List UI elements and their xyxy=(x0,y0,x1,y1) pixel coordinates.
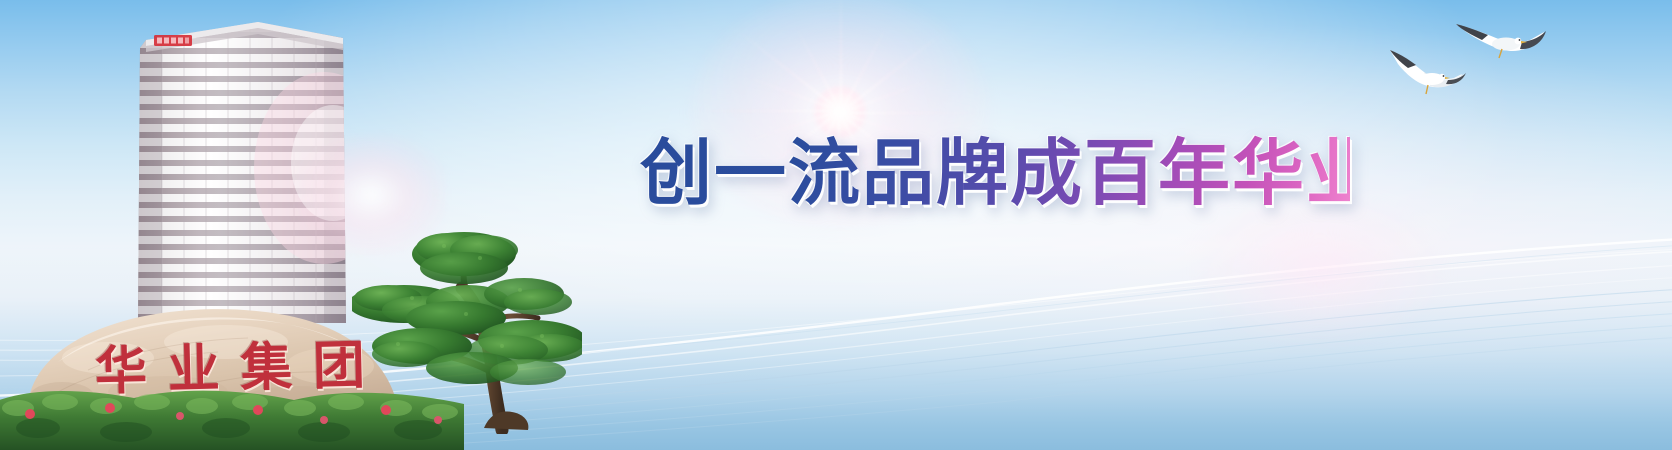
foreground-hedge xyxy=(0,380,464,450)
rooftop-sign xyxy=(154,35,192,46)
office-tower-image xyxy=(128,18,358,323)
seagull-icon-right xyxy=(1452,14,1552,76)
hero-banner: 华 业 集 团 xyxy=(0,0,1672,450)
banner-slogan: 创一流品牌 成百年华业 xyxy=(640,128,1350,218)
slogan-part-1: 创一流品牌 xyxy=(640,137,1010,209)
slogan-part-2: 成百年华业 xyxy=(1010,137,1380,209)
